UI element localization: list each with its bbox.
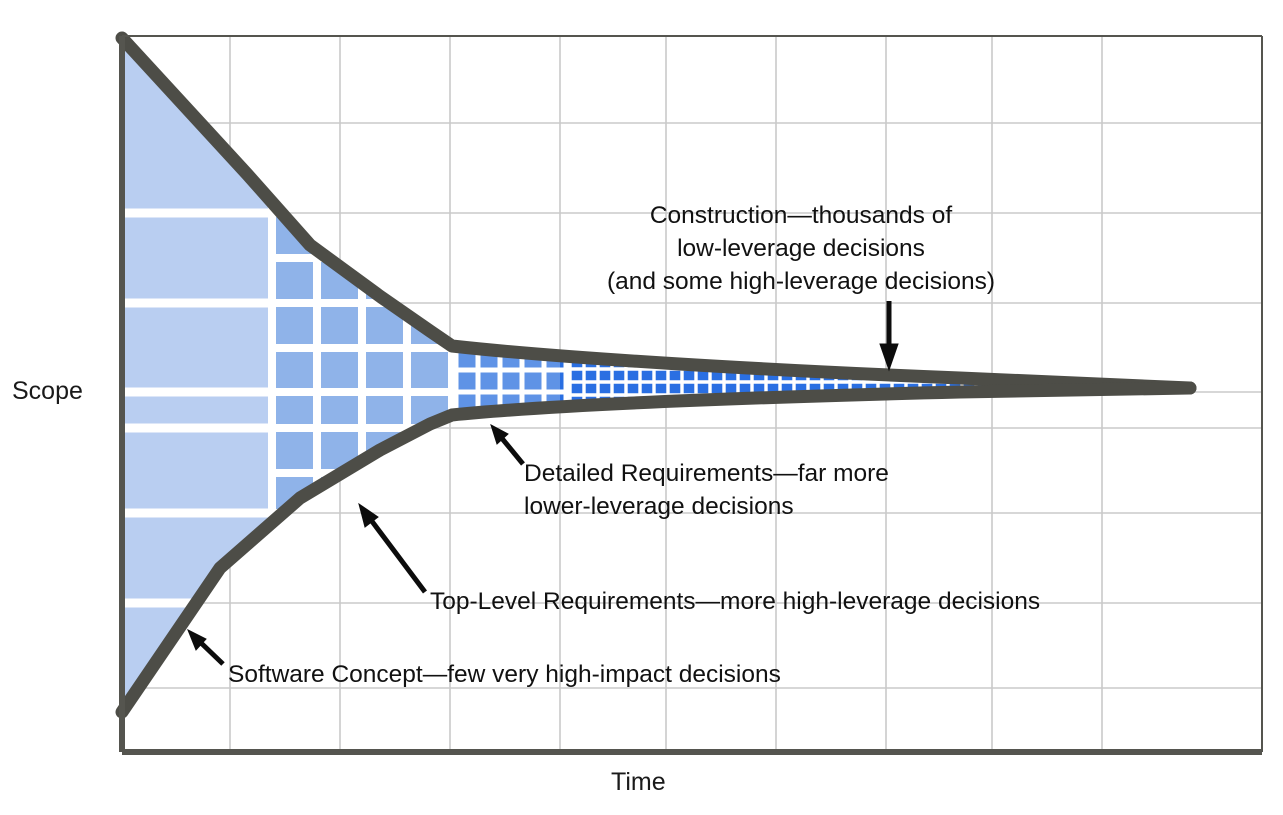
annotation-detailed-requirements: Detailed Requirements—far more lower-lev… xyxy=(524,457,889,523)
annotation-software-concept: Software Concept—few very high-impact de… xyxy=(228,658,781,691)
annotation-concept-line-1: Software Concept—few very high-impact de… xyxy=(228,658,781,691)
x-axis-label: Time xyxy=(611,768,666,797)
annotation-detailed-line-1: Detailed Requirements—far more xyxy=(524,457,889,490)
y-axis-label: Scope xyxy=(12,377,83,406)
annotation-top-level-requirements: Top-Level Requirements—more high-leverag… xyxy=(430,585,1040,618)
annotation-construction-line-3: (and some high-leverage decisions) xyxy=(606,265,996,298)
annotation-construction-line-1: Construction—thousands of xyxy=(606,199,996,232)
annotation-toplevel-line-1: Top-Level Requirements—more high-leverag… xyxy=(430,585,1040,618)
annotation-construction: Construction—thousands of low-leverage d… xyxy=(606,199,996,298)
figure-canvas: Scope Time Construction—thousands of low… xyxy=(0,0,1283,815)
annotation-construction-line-2: low-leverage decisions xyxy=(606,232,996,265)
annotation-detailed-line-2: lower-leverage decisions xyxy=(524,490,889,523)
scope-time-funnel-chart xyxy=(0,0,1283,815)
